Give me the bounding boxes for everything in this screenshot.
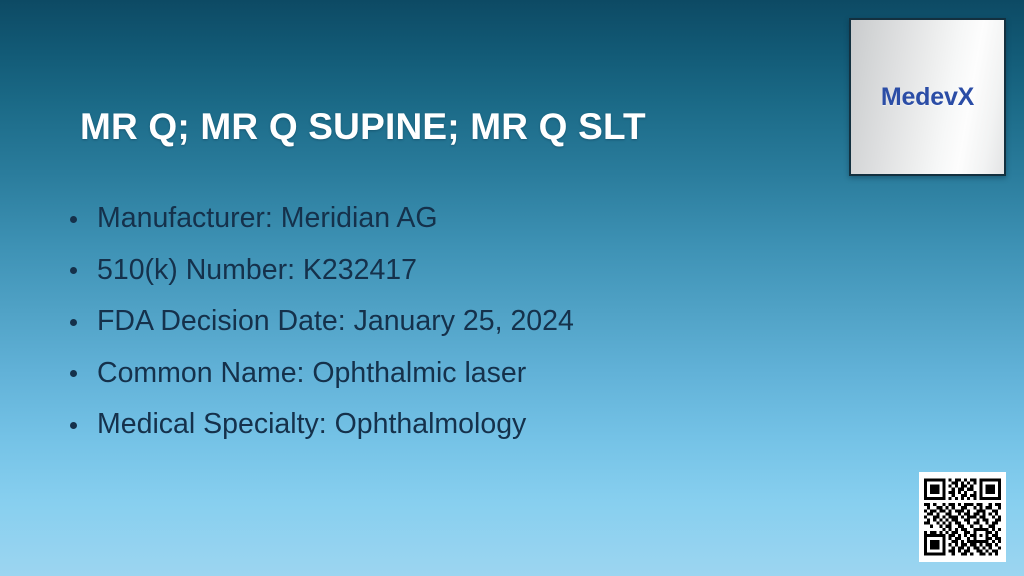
list-item-label: Manufacturer: Meridian AG xyxy=(97,202,438,234)
bullet-dot-icon xyxy=(70,319,77,326)
qr-code-icon[interactable] xyxy=(919,472,1006,562)
bullet-dot-icon xyxy=(70,216,77,223)
list-item: FDA Decision Date: January 25, 2024 xyxy=(68,296,828,348)
list-item: Common Name: Ophthalmic laser xyxy=(68,348,828,400)
list-item: Manufacturer: Meridian AG xyxy=(68,193,828,245)
list-item-label: FDA Decision Date: January 25, 2024 xyxy=(97,305,574,337)
page-title: MR Q; MR Q SUPINE; MR Q SLT xyxy=(80,105,780,149)
bullet-dot-icon xyxy=(70,267,77,274)
list-item-label: Medical Specialty: Ophthalmology xyxy=(97,408,526,440)
bullet-dot-icon xyxy=(70,370,77,377)
list-item-label: 510(k) Number: K232417 xyxy=(97,254,417,286)
logo-text: MedevX xyxy=(881,83,974,112)
slide-canvas: MR Q; MR Q SUPINE; MR Q SLT Manufacturer… xyxy=(0,0,1024,576)
list-item: Medical Specialty: Ophthalmology xyxy=(68,399,828,451)
bullet-dot-icon xyxy=(70,422,77,429)
medevx-logo-plate: MedevX xyxy=(849,18,1006,176)
list-item: 510(k) Number: K232417 xyxy=(68,245,828,297)
device-detail-list: Manufacturer: Meridian AG 510(k) Number:… xyxy=(68,193,828,451)
list-item-label: Common Name: Ophthalmic laser xyxy=(97,357,526,389)
